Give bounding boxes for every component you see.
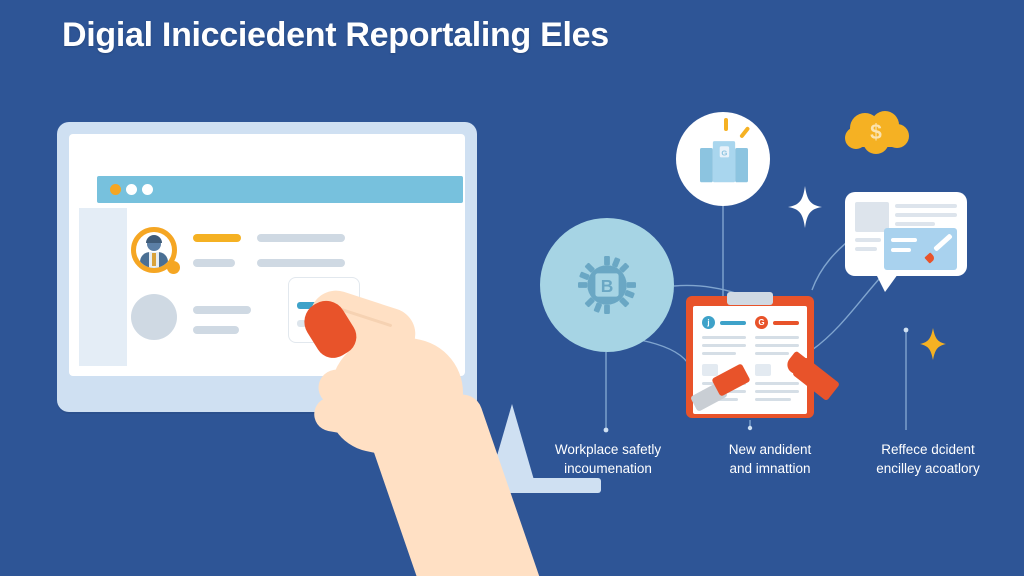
caption-1-line-2: incoumenation (518, 459, 698, 478)
caption-2-line-1: New andident (680, 440, 860, 459)
caption-1-line-1: Workplace safetly (518, 440, 698, 459)
cloud-dollar-icon[interactable]: $ (843, 108, 913, 158)
caption-reference-incident: Reffece dcident encilley acoatlory (838, 440, 1018, 478)
row1-title-bar (193, 234, 241, 242)
bubble-line-3 (895, 222, 935, 226)
bubble-line-4 (855, 238, 881, 242)
caption-workplace-safety: Workplace safetly incoumenation (518, 440, 698, 478)
clipboard-clip (727, 292, 773, 305)
row1-sub-bar (193, 259, 235, 267)
marker-right-icon (778, 348, 848, 418)
row2-title-bar (193, 306, 251, 314)
pen-icon (933, 233, 953, 251)
right-title-line (773, 321, 799, 325)
bubble-line-2 (895, 213, 957, 217)
caption-3-line-1: Reffece dcident (838, 440, 1018, 459)
gear-icon[interactable]: B (578, 256, 636, 314)
caption-3-line-2: encilley acoatlory (838, 459, 1018, 478)
badge-left-icon: j (702, 316, 715, 329)
gear-glyph: B (601, 276, 614, 296)
pen-tip-icon (924, 252, 935, 263)
window-dot-white-1[interactable] (126, 184, 137, 195)
bubble-image-placeholder (855, 202, 889, 232)
window-dot-orange[interactable] (110, 184, 121, 195)
caption-new-incident: New andident and imnattion (680, 440, 860, 478)
bubble-line-5 (855, 247, 877, 251)
row1-meta-bar-2 (257, 259, 345, 267)
bubble-tail (876, 274, 898, 292)
illustration-canvas: Digial Inicciedent Reportaling Eles (0, 0, 1024, 576)
marker-left-icon (692, 360, 762, 416)
avatar-status-badge (167, 261, 180, 274)
cloud-glyph: $ (870, 121, 882, 144)
app-sidebar[interactable] (79, 208, 127, 366)
browser-title-bar (97, 176, 463, 203)
sparkle-white-icon (788, 186, 822, 228)
page-title: Digial Inicciedent Reportaling Eles (62, 16, 609, 55)
left-title-line (720, 321, 746, 325)
row2-sub-bar (193, 326, 239, 334)
form-signature-bubble[interactable] (845, 192, 967, 276)
caption-2-line-2: and imnattion (680, 459, 860, 478)
row2-avatar-placeholder (131, 294, 177, 340)
building-sparkle-icon (700, 118, 756, 154)
window-dot-white-2[interactable] (142, 184, 153, 195)
bubble-line-1 (895, 204, 957, 208)
badge-right-icon: G (755, 316, 768, 329)
pointing-hand (290, 288, 520, 576)
sparkle-yellow-icon (920, 328, 946, 360)
avatar (136, 232, 172, 268)
row1-meta-bar (257, 234, 345, 242)
signature-card (884, 228, 957, 270)
